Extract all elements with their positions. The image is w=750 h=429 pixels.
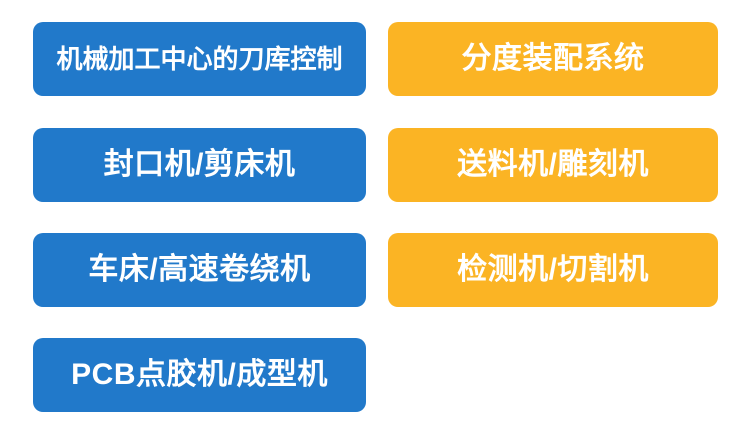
category-button-label: 车床/高速卷绕机 bbox=[88, 255, 310, 285]
category-button-orange-3[interactable]: 检测机/切割机 bbox=[388, 233, 718, 307]
category-button-label: 机械加工中心的刀库控制 bbox=[56, 46, 342, 72]
left-column: 机械加工中心的刀库控制 封口机/剪床机 车床/高速卷绕机 PCB点胶机/成型机 bbox=[33, 0, 366, 429]
category-button-label: 封口机/剪床机 bbox=[104, 150, 296, 180]
category-button-blue-4[interactable]: PCB点胶机/成型机 bbox=[33, 338, 366, 412]
category-button-blue-1[interactable]: 机械加工中心的刀库控制 bbox=[33, 22, 366, 96]
right-column: 分度装配系统 送料机/雕刻机 检测机/切割机 bbox=[388, 0, 718, 429]
category-button-blue-2[interactable]: 封口机/剪床机 bbox=[33, 128, 366, 202]
category-button-label: 检测机/切割机 bbox=[457, 255, 649, 285]
application-category-board: 机械加工中心的刀库控制 封口机/剪床机 车床/高速卷绕机 PCB点胶机/成型机 … bbox=[0, 0, 750, 429]
category-button-orange-1[interactable]: 分度装配系统 bbox=[388, 22, 718, 96]
category-button-blue-3[interactable]: 车床/高速卷绕机 bbox=[33, 233, 366, 307]
category-button-label: 分度装配系统 bbox=[462, 44, 645, 74]
category-button-label: 送料机/雕刻机 bbox=[457, 150, 649, 180]
category-button-orange-2[interactable]: 送料机/雕刻机 bbox=[388, 128, 718, 202]
category-button-label: PCB点胶机/成型机 bbox=[71, 360, 328, 390]
